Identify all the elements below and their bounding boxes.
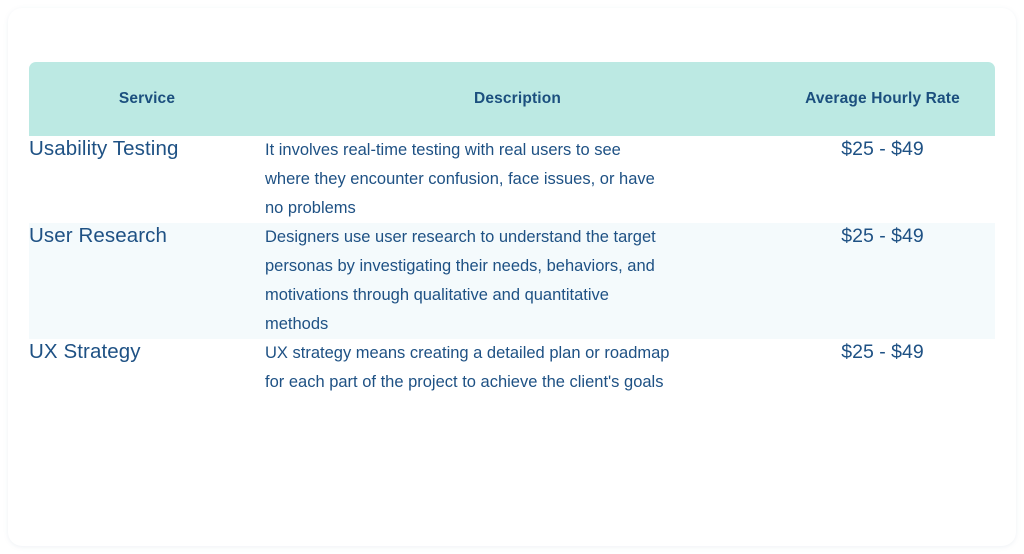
description-line: Designers use user research to understan… [265,223,770,252]
service-rate-card: Service Description Average Hourly Rate … [8,8,1016,546]
cell-average-hourly-rate: $25 - $49 [770,223,995,339]
column-header-description: Description [265,62,770,136]
description-line: It involves real-time testing with real … [265,136,770,165]
description-line: motivations through qualitative and quan… [265,281,770,310]
cell-service-name: UX Strategy [29,339,265,397]
cell-average-hourly-rate: $25 - $49 [770,136,995,223]
table-header: Service Description Average Hourly Rate [29,62,995,136]
description-line: for each part of the project to achieve … [265,368,770,397]
column-header-average-hourly-rate: Average Hourly Rate [770,62,995,136]
description-line: methods [265,310,770,339]
table-row: User Research Designers use user researc… [29,223,995,339]
description-line: UX strategy means creating a detailed pl… [265,339,770,368]
description-line: where they encounter confusion, face iss… [265,165,770,194]
cell-service-description: UX strategy means creating a detailed pl… [265,339,770,397]
table-row: UX Strategy UX strategy means creating a… [29,339,995,397]
cell-average-hourly-rate: $25 - $49 [770,339,995,397]
cell-service-description: Designers use user research to understan… [265,223,770,339]
column-header-service: Service [29,62,265,136]
description-line: personas by investigating their needs, b… [265,252,770,281]
cell-service-description: It involves real-time testing with real … [265,136,770,223]
table-body: Usability Testing It involves real-time … [29,136,995,397]
service-rate-table: Service Description Average Hourly Rate … [29,62,995,397]
description-line: no problems [265,194,770,223]
cell-service-name: Usability Testing [29,136,265,223]
table-row: Usability Testing It involves real-time … [29,136,995,223]
table-header-row: Service Description Average Hourly Rate [29,62,995,136]
cell-service-name: User Research [29,223,265,339]
